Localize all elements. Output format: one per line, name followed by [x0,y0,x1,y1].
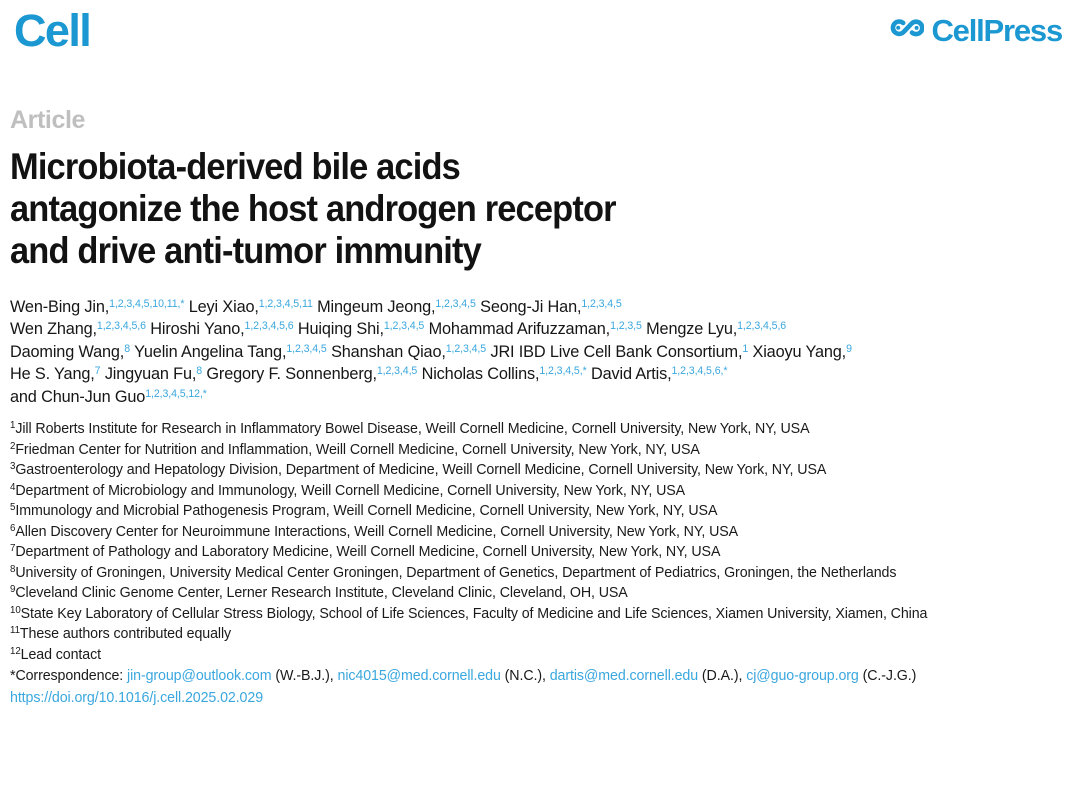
affiliation-text: Immunology and Microbial Pathogenesis Pr… [15,503,717,519]
author-affiliation-refs: 8 [124,343,130,355]
author-affiliation-refs: 8 [196,365,202,377]
affiliation-text: State Key Laboratory of Cellular Stress … [21,606,928,622]
affiliation-text: Lead contact [21,647,101,663]
affiliation-number: 12 [10,646,21,657]
masthead: Cell CellPress [0,0,1080,72]
affiliation-item: 1Jill Roberts Institute for Research in … [10,419,1044,439]
affiliation-text: University of Groningen, University Medi… [15,565,896,581]
correspondence-email-link[interactable]: jin-group@outlook.com [127,668,271,684]
author-affiliation-refs: 9 [846,343,852,355]
article-header: Article Microbiota-derived bile acids an… [10,108,1070,709]
author-affiliation-refs: 7 [95,365,101,377]
author-affiliation-refs: 1,2,3,4,5 [286,343,326,355]
cellpress-logo[interactable]: CellPress [890,13,1062,48]
author-name[interactable]: Wen-Bing Jin,1,2,3,4,5,10,11,* [10,298,184,316]
page-title: Microbiota-derived bile acids antagonize… [10,146,996,272]
correspondence-email-link[interactable]: dartis@med.cornell.edu [550,668,698,684]
affiliation-text: These authors contributed equally [20,626,231,642]
author-affiliation-refs: 1,2,3,4,5 [446,343,486,355]
affiliation-item: 2Friedman Center for Nutrition and Infla… [10,440,1044,460]
correspondence-initials: (W.-B.J.), [271,668,337,684]
author-name[interactable]: JRI IBD Live Cell Bank Consortium,1 [490,343,748,361]
affiliation-number: 11 [10,625,20,636]
author-line: Wen Zhang,1,2,3,4,5,6 Hiroshi Yano,1,2,3… [10,318,1070,340]
author-name[interactable]: Shanshan Qiao,1,2,3,4,5 [331,343,486,361]
author-name[interactable]: Xiaoyu Yang,9 [753,343,852,361]
correspondence-email-link[interactable]: cj@guo-group.org [746,668,859,684]
correspondence-line: *Correspondence: jin-group@outlook.com (… [10,668,916,684]
affiliation-text: Gastroenterology and Hepatology Division… [15,462,826,478]
author-affiliation-refs: 1,2,3,4,5,* [539,365,586,377]
author-line: and Chun-Jun Guo1,2,3,4,5,12,* [10,386,1070,408]
journal-wordmark[interactable]: Cell [14,8,90,53]
author-affiliation-refs: 1,2,3,4,5,6 [245,320,294,332]
affiliation-text: Department of Microbiology and Immunolog… [15,483,685,499]
author-name[interactable]: Hiroshi Yano,1,2,3,4,5,6 [150,320,293,338]
author-name[interactable]: David Artis,1,2,3,4,5,6,* [591,365,727,383]
affiliation-item: 11These authors contributed equally [10,624,1044,644]
author-name[interactable]: Huiqing Shi,1,2,3,4,5 [298,320,424,338]
affiliation-item: 8University of Groningen, University Med… [10,563,1044,583]
author-affiliation-refs: 1,2,3,4,5 [384,320,424,332]
author-name[interactable]: Daoming Wang,8 [10,343,130,361]
author-list: Wen-Bing Jin,1,2,3,4,5,10,11,* Leyi Xiao… [10,296,1070,408]
affiliation-item: 10State Key Laboratory of Cellular Stres… [10,604,1044,624]
author-name[interactable]: Jingyuan Fu,8 [105,365,202,383]
affiliation-number: 10 [10,605,21,616]
affiliation-item: 3Gastroenterology and Hepatology Divisio… [10,460,1044,480]
correspondence-initials: (D.A.), [698,668,746,684]
author-name[interactable]: Wen Zhang,1,2,3,4,5,6 [10,320,146,338]
correspondence-label: *Correspondence: [10,668,127,684]
author-name[interactable]: Yuelin Angelina Tang,1,2,3,4,5 [134,343,327,361]
doi-link[interactable]: https://doi.org/10.1016/j.cell.2025.02.0… [10,689,263,708]
author-affiliation-refs: 1,2,3,4,5,6,* [672,365,728,377]
affiliation-list: 1Jill Roberts Institute for Research in … [10,419,1044,665]
author-affiliation-refs: 1,2,3,4,5,12,* [145,388,207,400]
author-line: Daoming Wang,8 Yuelin Angelina Tang,1,2,… [10,341,1070,363]
author-name[interactable]: and Chun-Jun Guo1,2,3,4,5,12,* [10,388,207,406]
correspondence-email-link[interactable]: nic4015@med.cornell.edu [338,668,501,684]
cellpress-loop-icon [890,13,924,48]
author-affiliation-refs: 1,2,3,4,5,6 [97,320,146,332]
affiliation-item: 6Allen Discovery Center for Neuroimmune … [10,522,1044,542]
author-name[interactable]: Nicholas Collins,1,2,3,4,5,* [422,365,587,383]
author-name[interactable]: Mengze Lyu,1,2,3,4,5,6 [646,320,786,338]
correspondence-initials: (N.C.), [501,668,550,684]
affiliation-text: Jill Roberts Institute for Research in I… [15,421,809,437]
author-affiliation-refs: 1,2,3,4,5,6 [737,320,786,332]
correspondence-initials: (C.-J.G.) [859,668,917,684]
affiliation-item: 7Department of Pathology and Laboratory … [10,542,1044,562]
author-affiliation-refs: 1,2,3,4,5 [581,298,621,310]
author-name[interactable]: Mohammad Arifuzzaman,1,2,3,5 [429,320,642,338]
author-name[interactable]: Seong-Ji Han,1,2,3,4,5 [480,298,622,316]
author-line: Wen-Bing Jin,1,2,3,4,5,10,11,* Leyi Xiao… [10,296,1070,318]
author-affiliation-refs: 1,2,3,4,5,11 [259,298,313,310]
article-type-label: Article [10,108,1070,133]
affiliation-text: Cleveland Clinic Genome Center, Lerner R… [15,585,627,601]
correspondence-block: *Correspondence: jin-group@outlook.com (… [10,667,1044,709]
author-name[interactable]: Mingeum Jeong,1,2,3,4,5 [317,298,476,316]
author-name[interactable]: He S. Yang,7 [10,365,100,383]
author-affiliation-refs: 1,2,3,4,5 [377,365,417,377]
affiliation-text: Department of Pathology and Laboratory M… [15,544,720,560]
affiliation-text: Friedman Center for Nutrition and Inflam… [15,442,699,458]
affiliation-text: Allen Discovery Center for Neuroimmune I… [15,524,738,540]
author-name[interactable]: Leyi Xiao,1,2,3,4,5,11 [189,298,313,316]
author-affiliation-refs: 1,2,3,4,5 [435,298,475,310]
affiliation-item: 9Cleveland Clinic Genome Center, Lerner … [10,583,1044,603]
affiliation-item: 12Lead contact [10,645,1044,665]
cellpress-wordmark: CellPress [931,15,1062,46]
author-name[interactable]: Gregory F. Sonnenberg,1,2,3,4,5 [206,365,417,383]
affiliation-item: 4Department of Microbiology and Immunolo… [10,481,1044,501]
author-affiliation-refs: 1,2,3,5 [610,320,642,332]
author-affiliation-refs: 1 [742,343,748,355]
affiliation-item: 5Immunology and Microbial Pathogenesis P… [10,501,1044,521]
author-line: He S. Yang,7 Jingyuan Fu,8 Gregory F. So… [10,363,1070,385]
author-affiliation-refs: 1,2,3,4,5,10,11,* [109,298,184,310]
